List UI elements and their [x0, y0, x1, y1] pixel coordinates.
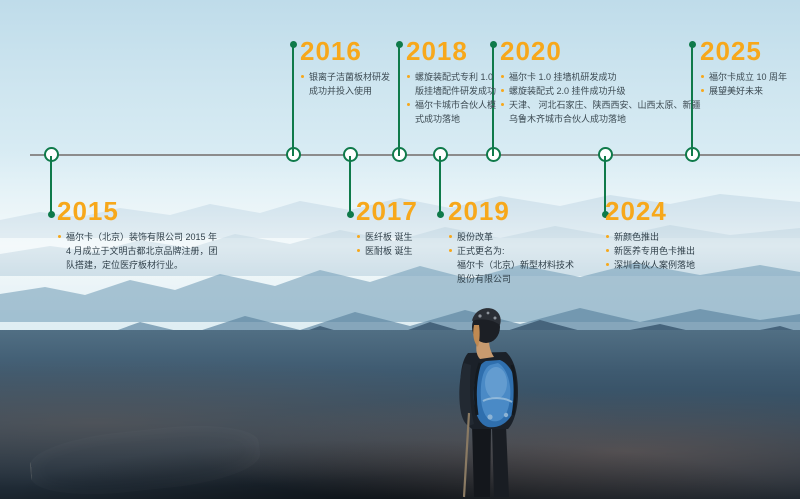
milestone-line: 版挂墙配件研发成功 — [406, 84, 496, 98]
milestone-line: 福尔卡城市合伙人模 — [406, 98, 496, 112]
milestone-block-2015: 2015 福尔卡（北京）装饰有限公司 2015 年 4 月成立于文明古都北京品牌… — [57, 196, 218, 272]
milestone-line: 4 月成立于文明古都北京品牌注册，团 — [57, 244, 218, 258]
milestone-bullets-2019: 股份改革 正式更名为: 福尔卡（北京）新型材料技术 股份有限公司 — [448, 230, 574, 286]
milestone-line: 天津、 河北石家庄、陕西西安、山西太原、新疆 — [500, 98, 701, 112]
milestone-bullets-2025: 福尔卡成立 10 周年 展望美好未来 — [700, 70, 787, 98]
milestone-year-2019: 2019 — [448, 196, 574, 226]
milestone-year-2017: 2017 — [356, 196, 418, 226]
milestone-line: 医纤板 诞生 — [356, 230, 418, 244]
milestone-line: 深圳合伙人案例落地 — [605, 258, 695, 272]
milestone-year-2024: 2024 — [605, 196, 695, 226]
milestone-line: 福尔卡（北京）新型材料技术 — [448, 258, 574, 272]
timeline-stem — [349, 156, 351, 214]
milestone-bullets-2017: 医纤板 诞生 医耐板 诞生 — [356, 230, 418, 258]
timeline-stem-cap — [48, 211, 55, 218]
milestone-block-2019: 2019 股份改革 正式更名为: 福尔卡（北京）新型材料技术 股份有限公司 — [448, 196, 574, 286]
milestone-year-2015: 2015 — [57, 196, 218, 226]
timeline-stem — [398, 44, 400, 156]
milestone-line: 正式更名为: — [448, 244, 574, 258]
milestone-line: 银离子洁菌板材研发 — [300, 70, 390, 84]
timeline-stem — [292, 44, 294, 156]
milestone-line: 式成功落地 — [406, 112, 496, 126]
milestone-line: 福尔卡（北京）装饰有限公司 2015 年 — [57, 230, 218, 244]
milestone-year-2016: 2016 — [300, 36, 390, 66]
timeline-stem — [439, 156, 441, 214]
milestone-line: 队搭建，定位医疗板材行业。 — [57, 258, 218, 272]
milestone-block-2018: 2018 螺旋装配式专利 1.0 版挂墙配件研发成功 福尔卡城市合伙人模 式成功… — [406, 36, 496, 126]
milestone-line: 乌鲁木齐城市合伙人成功落地 — [500, 112, 701, 126]
milestone-line: 福尔卡成立 10 周年 — [700, 70, 787, 84]
milestone-line: 新医养专用色卡推出 — [605, 244, 695, 258]
timeline-stem-cap — [437, 211, 444, 218]
milestone-bullets-2024: 新颜色推出 新医养专用色卡推出 深圳合伙人案例落地 — [605, 230, 695, 272]
timeline-stem-cap — [347, 211, 354, 218]
milestone-block-2025: 2025 福尔卡成立 10 周年 展望美好未来 — [700, 36, 787, 98]
milestone-bullets-2016: 银离子洁菌板材研发 成功并投入使用 — [300, 70, 390, 98]
timeline-stem — [50, 156, 52, 214]
timeline-stem-cap — [396, 41, 403, 48]
milestone-year-2025: 2025 — [700, 36, 787, 66]
milestone-line: 福尔卡 1.0 挂墙机研发成功 — [500, 70, 701, 84]
milestone-block-2020: 2020 福尔卡 1.0 挂墙机研发成功 螺旋装配式 2.0 挂件成功升级 天津… — [500, 36, 701, 126]
hiker-figure — [428, 305, 558, 499]
milestone-line: 新颜色推出 — [605, 230, 695, 244]
milestone-line: 螺旋装配式专利 1.0 — [406, 70, 496, 84]
milestone-line: 股份有限公司 — [448, 272, 574, 286]
milestone-bullets-2020: 福尔卡 1.0 挂墙机研发成功 螺旋装配式 2.0 挂件成功升级 天津、 河北石… — [500, 70, 701, 126]
milestone-block-2017: 2017 医纤板 诞生 医耐板 诞生 — [356, 196, 418, 258]
milestone-year-2018: 2018 — [406, 36, 496, 66]
milestone-line: 成功并投入使用 — [300, 84, 390, 98]
milestone-line: 螺旋装配式 2.0 挂件成功升级 — [500, 84, 701, 98]
milestone-block-2024: 2024 新颜色推出 新医养专用色卡推出 深圳合伙人案例落地 — [605, 196, 695, 272]
milestone-line: 股份改革 — [448, 230, 574, 244]
milestone-block-2016: 2016 银离子洁菌板材研发 成功并投入使用 — [300, 36, 390, 98]
milestone-line: 展望美好未来 — [700, 84, 787, 98]
infographic-stage: 2016 银离子洁菌板材研发 成功并投入使用 2018 螺旋装配式专利 1.0 … — [0, 0, 800, 499]
milestone-line: 医耐板 诞生 — [356, 244, 418, 258]
milestone-bullets-2018: 螺旋装配式专利 1.0 版挂墙配件研发成功 福尔卡城市合伙人模 式成功落地 — [406, 70, 496, 126]
milestone-bullets-2015: 福尔卡（北京）装饰有限公司 2015 年 4 月成立于文明古都北京品牌注册，团 … — [57, 230, 218, 272]
timeline-stem-cap — [290, 41, 297, 48]
milestone-year-2020: 2020 — [500, 36, 701, 66]
